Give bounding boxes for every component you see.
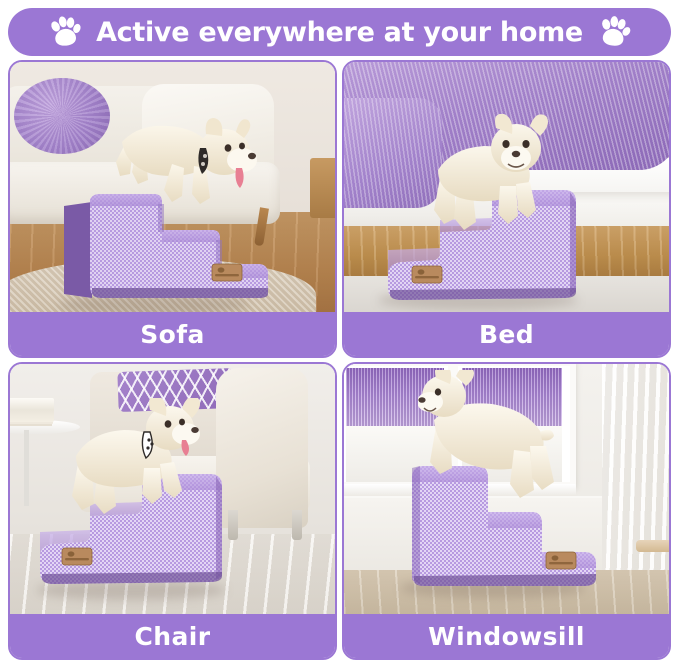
panel-chair[interactable]: Chair (8, 362, 337, 660)
small-stool (636, 540, 669, 552)
pillow-ribs (14, 78, 110, 154)
banner-title: Active everywhere at your home (96, 19, 583, 46)
panel-caption-sofa: Sofa (10, 312, 335, 356)
photo-bed (344, 62, 669, 316)
paw-print-icon (46, 14, 83, 49)
photo-sofa (10, 62, 335, 316)
photo-windowsill (344, 364, 669, 618)
panel-caption-chair: Chair (10, 614, 335, 658)
armchair-foot (292, 510, 302, 540)
panel-caption-bed: Bed (344, 312, 669, 356)
panel-windowsill[interactable]: Windowsill (342, 362, 671, 660)
photo-chair (10, 364, 335, 618)
infographic-root: Active everywhere at your home (0, 0, 679, 666)
dog (106, 106, 266, 218)
caption-label: Sofa (140, 322, 205, 347)
caption-label: Windowsill (428, 624, 585, 649)
panel-caption-windowsill: Windowsill (344, 614, 669, 658)
dog (418, 370, 576, 506)
caption-label: Chair (135, 624, 211, 649)
stacked-books (10, 398, 54, 422)
side-table-leg (310, 158, 335, 218)
paw-print-icon (595, 14, 633, 50)
side-table-stem (24, 430, 29, 506)
caption-label: Bed (479, 322, 534, 347)
panel-bed[interactable]: Bed (342, 60, 671, 358)
dog (64, 398, 214, 524)
panel-sofa[interactable]: Sofa (8, 60, 337, 358)
header-banner: Active everywhere at your home (8, 8, 671, 56)
brand-logo-tag (212, 264, 242, 281)
brand-logo-tag (412, 266, 442, 283)
brand-logo-tag (62, 548, 92, 565)
dog (428, 114, 556, 246)
panel-grid: Sofa (8, 60, 671, 660)
brand-logo-tag (546, 552, 576, 569)
